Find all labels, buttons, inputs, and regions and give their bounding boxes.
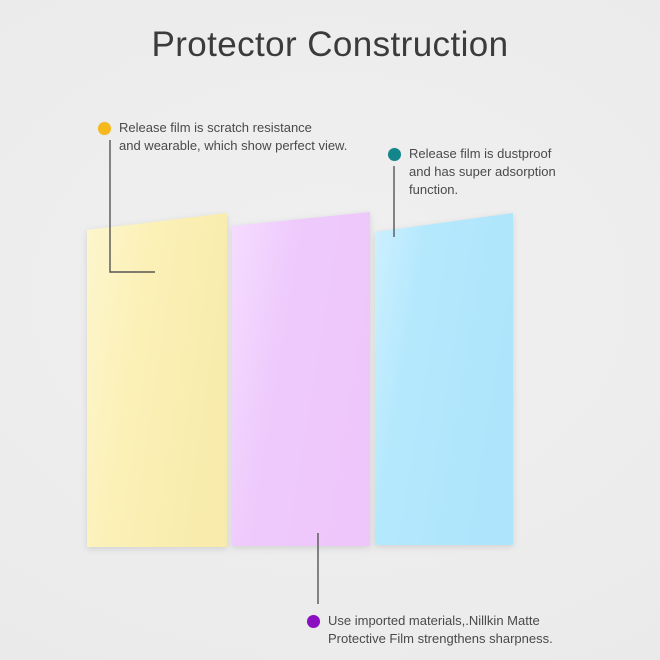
- amber-bullet-icon: [98, 122, 111, 135]
- film-layer-pink: [232, 212, 370, 546]
- callout-dustproof: Release film is dustproof and has super …: [388, 145, 556, 199]
- callout-dustproof-text: Release film is dustproof and has super …: [409, 145, 556, 199]
- protector-construction-infographic: Protector Construction: [0, 0, 660, 660]
- callout-scratch-resistance: Release film is scratch resistance and w…: [98, 119, 347, 155]
- film-layer-blue: [375, 213, 513, 545]
- callout-scratch-resistance-text: Release film is scratch resistance and w…: [119, 119, 347, 155]
- callout-imported-materials: Use imported materials,.Nillkin Matte Pr…: [307, 612, 553, 648]
- callout-imported-materials-text: Use imported materials,.Nillkin Matte Pr…: [328, 612, 553, 648]
- film-layer-diagram: [0, 0, 660, 660]
- purple-bullet-icon: [307, 615, 320, 628]
- teal-bullet-icon: [388, 148, 401, 161]
- film-layer-yellow: [87, 213, 227, 547]
